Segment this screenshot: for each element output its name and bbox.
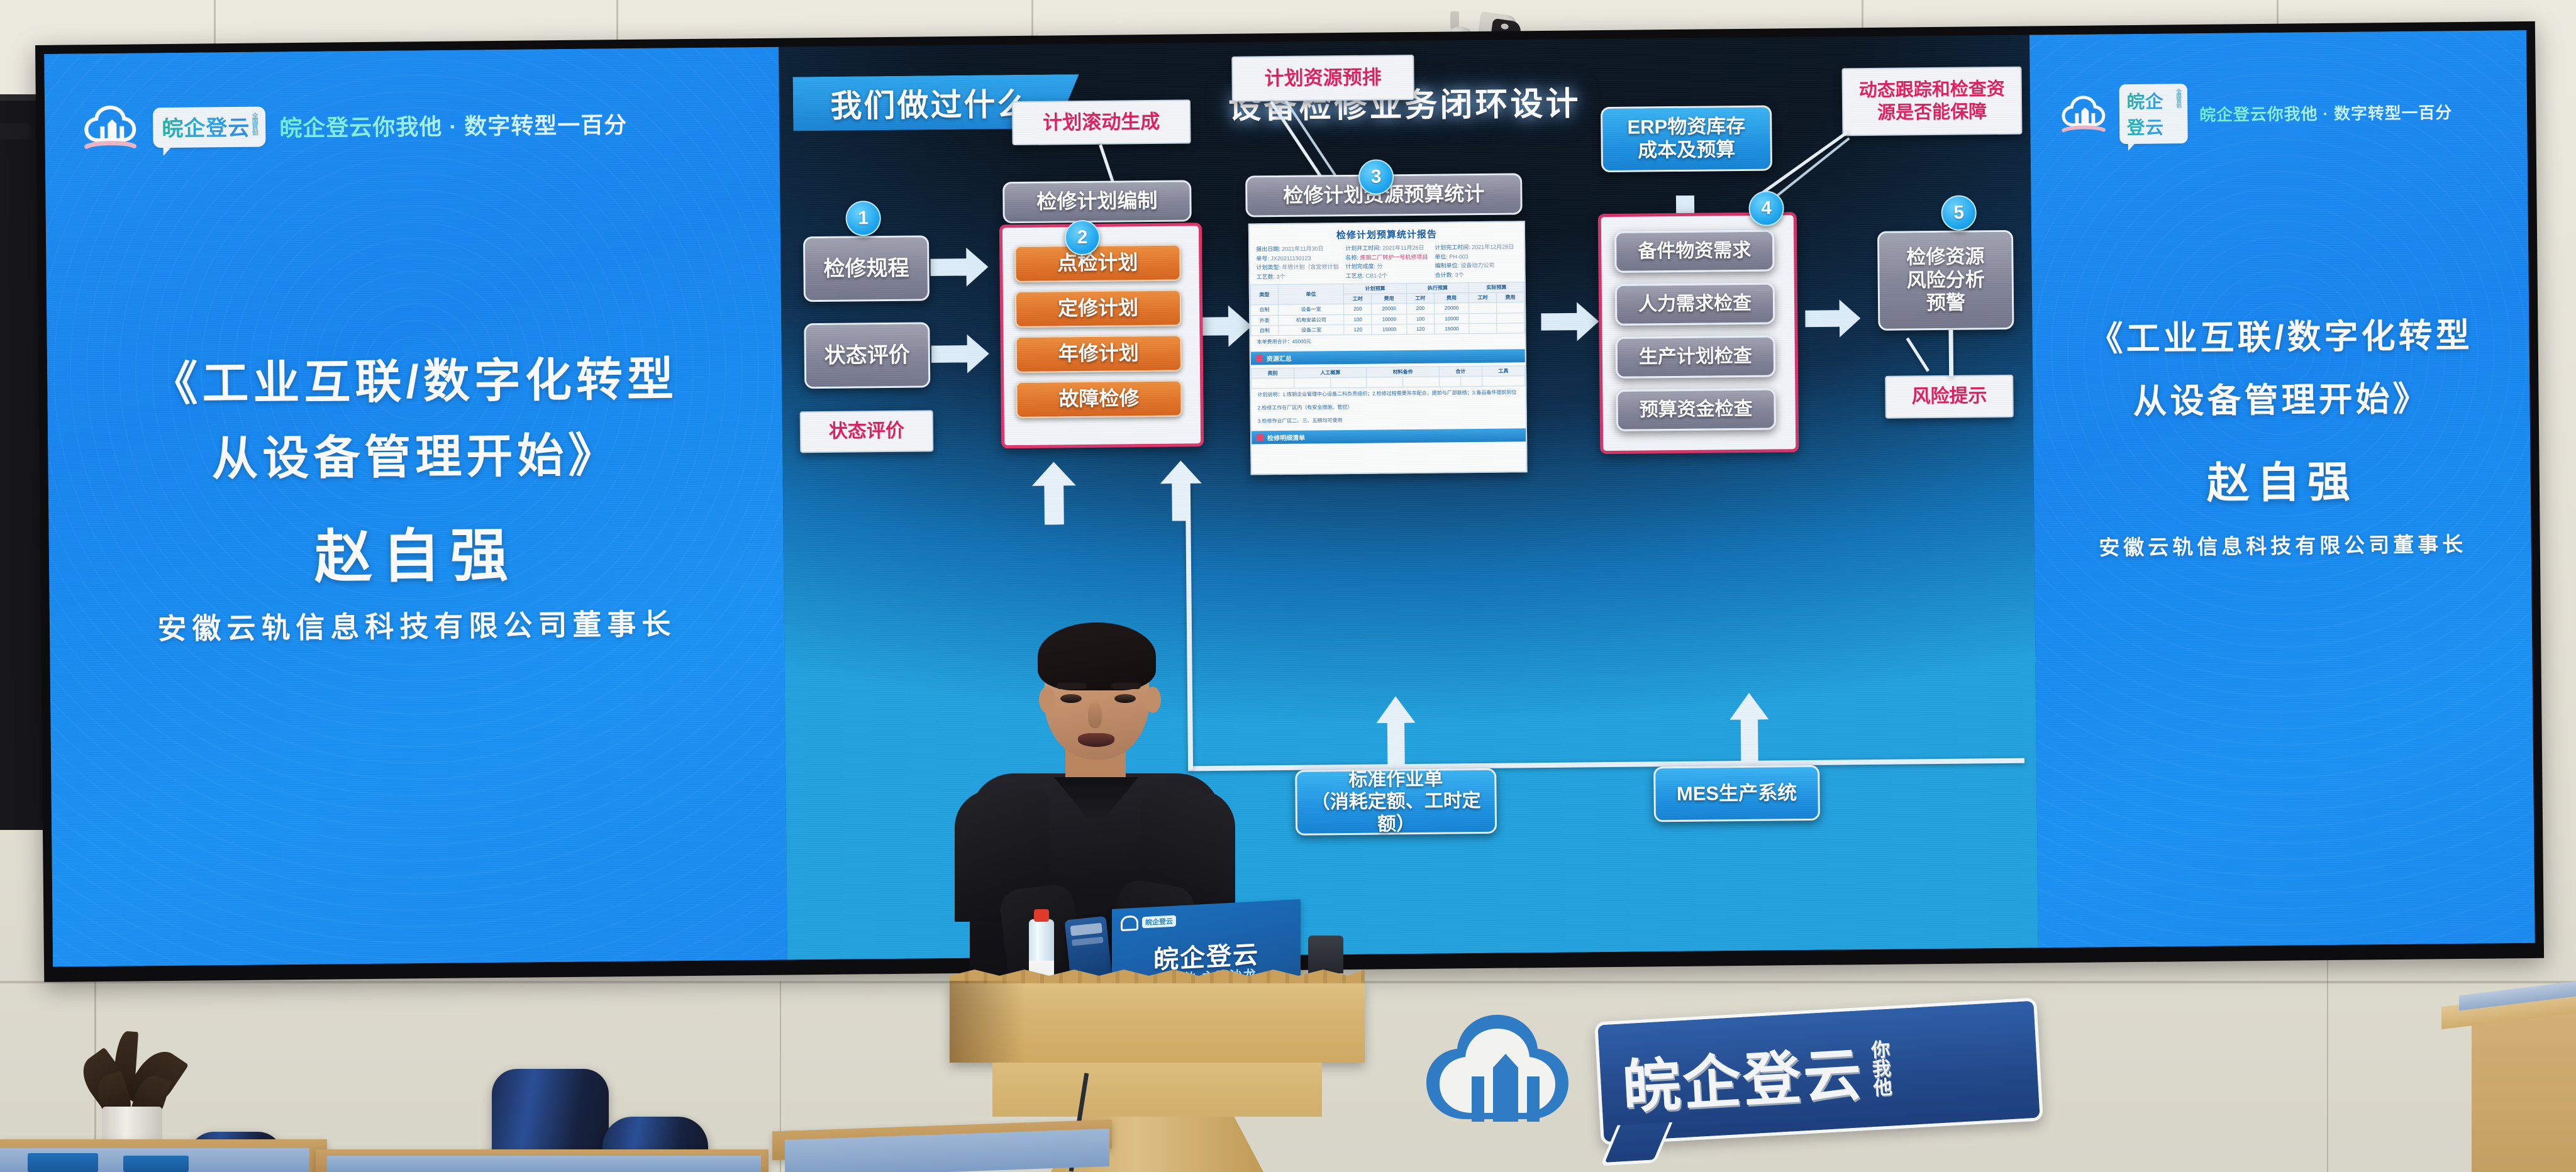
node-plan-type-2[interactable]: 年修计划 [1016,335,1182,373]
slide-right-panel: 皖企登云 全国首创 皖企登云你我他 · 数字转型一百分 《工业互联/数字化转型 … [2029,30,2535,948]
brand-pill-text: 皖企登云 [162,111,250,142]
node-mes-system[interactable]: MES生产系统 [1653,765,1820,822]
report-total: 本单费用合计：45000元 [1251,333,1525,349]
wall-seam [2327,931,2328,1172]
arrow-rule-to-plans [930,247,989,287]
embedded-report-screenshot: 检修计划预算统计报告 报出日期: 2021年11月30日 计划开工时间: 202… [1248,221,1528,475]
tent-card-logo-text: 皖企登云 [1142,915,1176,929]
report-table-2: 类别 人工概算 材料备件 合计 工具 [1251,365,1525,389]
node-plan-type-0[interactable]: 点检计划 [1014,245,1181,283]
brand-pill-text: 皖企登云 [2126,87,2175,139]
floor-sign-cloud-icon [1409,1007,1586,1172]
arrow-eval-to-plans [931,334,989,373]
floor-standing-sign: 皖企登云 你我他 [1409,1001,2012,1172]
node-check-3[interactable]: 预算资金检查 [1616,388,1776,431]
talk-title-line1: 《工业互联/数字化转型 [2032,307,2529,362]
floor-sign-text: 皖企登云 [1620,1027,1866,1124]
arrow-mes-up [1160,460,1202,521]
node-condition-eval[interactable]: 状态评价 [804,322,930,389]
report-table: 类型 单位 计划预算 执行预算 实际预算 工时 费用 工时 费用 工时 费用 [1250,282,1525,336]
callout-leader [1099,144,1114,182]
desk-name-card [28,1153,98,1172]
node-plan-compile[interactable]: 检修计划编制 [1002,180,1192,223]
talk-title-line2: 从设备管理开始》 [48,418,783,497]
conference-room-photo: 皖企登云 全国首创 皖企登云你我他 · 数字转型一百分 《工业互联/数字化转型 … [0,0,2576,1172]
slide-left-panel: 皖企登云 全国首创 皖企登云你我他 · 数字转型一百分 《工业互联/数字化转型 … [44,47,787,967]
report-section3-bar: 检修明细清单 [1252,428,1526,444]
callout-rolling-plan: 计划滚动生成 [1012,99,1191,145]
callout-leader [1760,131,1848,195]
wall-bracket [0,123,31,140]
report-note-2: 3.检修作业厂区二、三、五期均可使用 [1252,412,1526,428]
step-badge-2: 2 [1065,220,1101,256]
step-badge-4: 4 [1748,191,1784,226]
step-badge-1: 1 [845,201,881,236]
node-risk-analysis[interactable]: 检修资源 风险分析 预警 [1877,230,2014,331]
led-video-wall: 皖企登云 全国首创 皖企登云你我他 · 数字转型一百分 《工业互联/数字化转型 … [35,21,2544,982]
node-check-2[interactable]: 生产计划检查 [1616,335,1776,378]
speaker-affiliation: 安徽云轨信息科技有限公司董事长 [2035,527,2531,562]
side-table [2472,998,2576,1172]
led-screen-surface: 皖企登云 全国首创 皖企登云你我他 · 数字转型一百分 《工业互联/数字化转型 … [44,30,2535,967]
node-standard-work-order[interactable]: 标准作业单 （消耗定额、工时定额） [1295,768,1497,836]
talk-title-line1: 《工业互联/数字化转型 [47,343,782,422]
callout-resource-prearrange: 计划资源预排 [1231,55,1414,102]
floor-sign-suffix: 你我他 [1868,1039,1890,1097]
node-plan-type-1[interactable]: 定修计划 [1015,290,1182,328]
report-meta: 报出日期: 2021年11月30日 计划开工时间: 2021年11月26日 计划… [1250,243,1524,281]
arrow-mes-riser [1729,693,1769,764]
arrow-sop-to-plans [1031,462,1076,525]
report-section2-bar: 资源汇总 [1251,349,1525,365]
callout-leader [1906,338,1930,372]
arrow-report-to-checks [1541,302,1599,341]
tent-card-logo: 皖企登云 [1121,914,1176,932]
connector-risk-tip [1948,330,1953,377]
talk-title-line2: 从设备管理开始》 [2033,370,2530,424]
step-badge-5: 5 [1941,195,1977,231]
desk-surface [327,1156,761,1172]
speaker-name: 赵自强 [2033,445,2531,512]
callout-condition-eval: 状态评价 [800,410,934,453]
callout-dynamic-track: 动态跟踪和检查资 源是否能保障 [1841,67,2022,136]
brand-pill: 皖企登云 全国首创 [153,106,266,148]
event-slogan: 皖企登云你我他 · 数字转型一百分 [2199,99,2452,126]
brand-pill-sub: 全国首创 [2175,89,2180,108]
arrow-sop-riser [1376,696,1416,767]
report-title: 检修计划预算统计报告 [1250,222,1524,245]
node-plan-type-3[interactable]: 故障检修 [1016,380,1182,419]
node-check-1[interactable]: 人力需求检查 [1615,282,1775,325]
speaker-name: 赵自强 [48,506,784,597]
brand-pill: 皖企登云 全国首创 [2119,84,2189,144]
node-inspection-rule[interactable]: 检修规程 [803,235,930,302]
callout-risk-tip: 风险提示 [1885,375,2014,419]
arrow-checks-to-risk [1805,299,1861,338]
step-badge-3: 3 [1358,159,1394,195]
brand-row-left: 皖企登云 全国首创 皖企登云你我他 · 数字转型一百分 [81,100,628,152]
speaker-affiliation: 安徽云轨信息科技有限公司董事长 [50,600,785,649]
node-check-0[interactable]: 备件物资需求 [1614,229,1775,272]
desk-name-card [123,1156,189,1172]
cloud-logo-icon [81,104,140,152]
brand-pill-sub: 全国首创 [251,113,257,135]
brand-row-right: 皖企登云 全国首创 皖企登云你我他 · 数字转型一百分 [2059,81,2453,145]
node-erp-inventory[interactable]: ERP物资库存 成本及预算 [1601,106,1772,173]
event-slogan: 皖企登云你我他 · 数字转型一百分 [279,107,627,143]
cloud-logo-icon [2059,95,2108,135]
